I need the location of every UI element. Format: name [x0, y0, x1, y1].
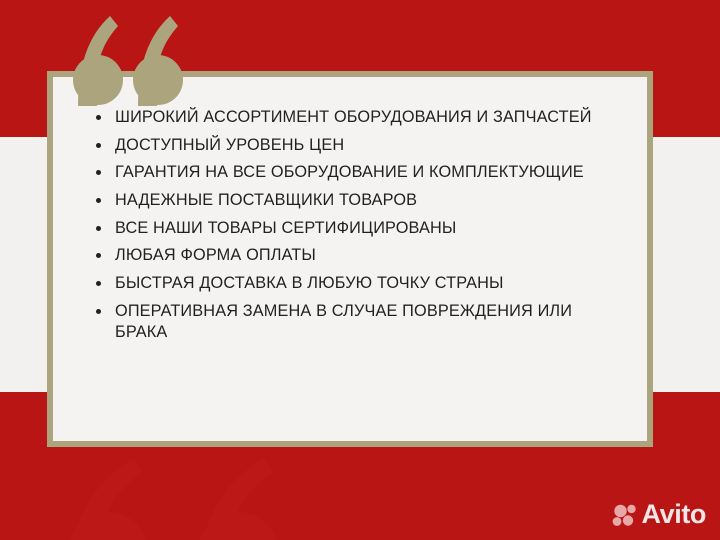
slide-canvas: ШИРОКИЙ АССОРТИМЕНТ ОБОРУДОВАНИЯ И ЗАПЧА…	[0, 0, 720, 540]
background-band-right	[650, 137, 720, 392]
quote-card: ШИРОКИЙ АССОРТИМЕНТ ОБОРУДОВАНИЯ И ЗАПЧА…	[47, 71, 653, 447]
list-item: ДОСТУПНЫЙ УРОВЕНЬ ЦЕН	[87, 135, 605, 157]
list-item: БЫСТРАЯ ДОСТАВКА В ЛЮБУЮ ТОЧКУ СТРАНЫ	[87, 273, 605, 295]
list-item: ШИРОКИЙ АССОРТИМЕНТ ОБОРУДОВАНИЯ И ЗАПЧА…	[87, 107, 605, 129]
list-item: НАДЕЖНЫЕ ПОСТАВЩИКИ ТОВАРОВ	[87, 190, 605, 212]
list-item: ГАРАНТИЯ НА ВСЕ ОБОРУДОВАНИЕ И КОМПЛЕКТУ…	[87, 162, 605, 184]
avito-dots-icon	[612, 504, 638, 526]
avito-wordmark: Avito	[642, 501, 707, 528]
opening-quote-mark	[72, 14, 192, 106]
list-item: ЛЮБАЯ ФОРМА ОПЛАТЫ	[87, 245, 605, 267]
quote-card-inner: ШИРОКИЙ АССОРТИМЕНТ ОБОРУДОВАНИЯ И ЗАПЧА…	[53, 77, 647, 441]
list-item: ОПЕРАТИВНАЯ ЗАМЕНА В СЛУЧАЕ ПОВРЕЖДЕНИЯ …	[87, 301, 605, 344]
list-item: ВСЕ НАШИ ТОВАРЫ СЕРТИФИЦИРОВАНЫ	[87, 218, 605, 240]
avito-watermark: Avito	[612, 501, 707, 528]
benefits-list: ШИРОКИЙ АССОРТИМЕНТ ОБОРУДОВАНИЯ И ЗАПЧА…	[87, 107, 613, 344]
